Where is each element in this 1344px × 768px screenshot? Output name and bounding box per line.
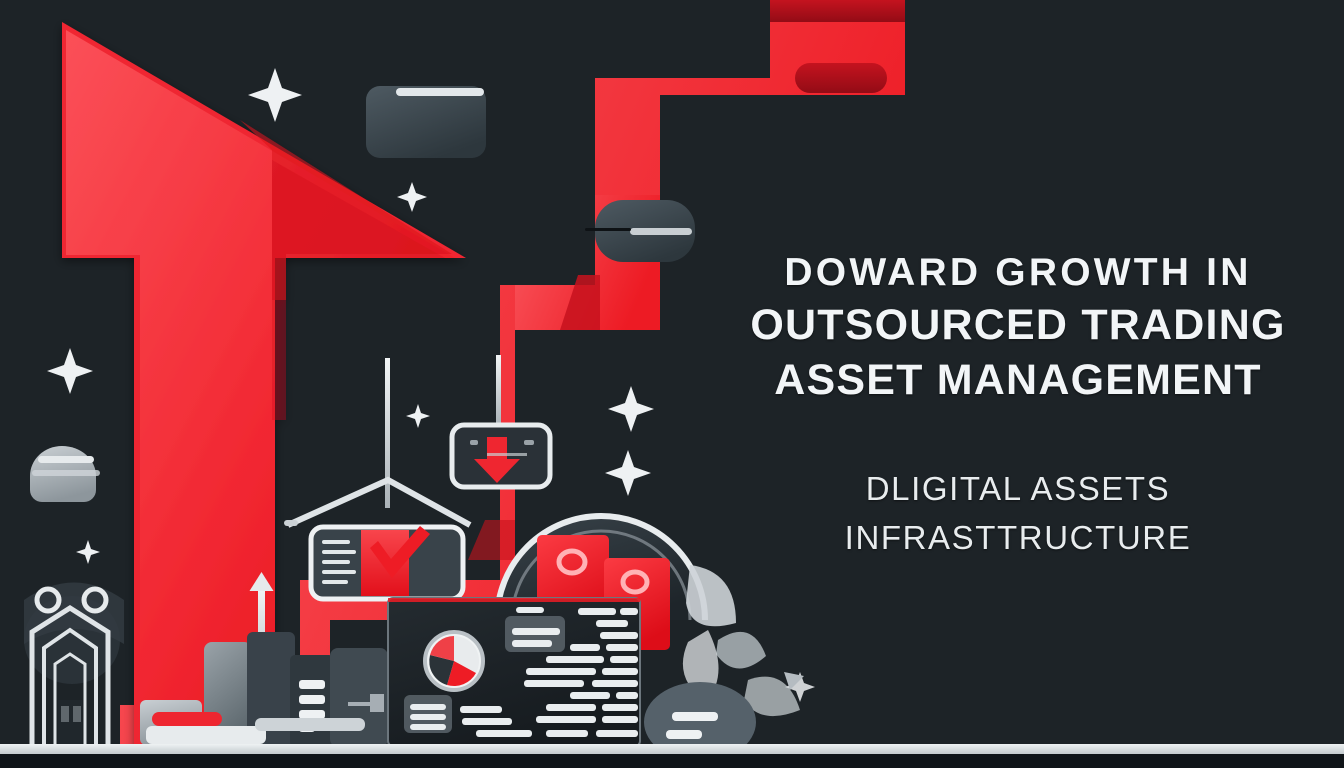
bottom-bar [0,754,1344,768]
pie-chart-icon [425,632,483,690]
analytics-dashboard-panel [388,598,640,746]
poster-canvas: DOWARD GROWTH IN OUTSOURCED TRADING ASSE… [0,0,1344,768]
step-shadow-accent [795,63,887,93]
headline-block: DOWARD GROWTH IN OUTSOURCED TRADING ASSE… [738,248,1298,408]
subtitle-line-2: INFRASTTRUCTURE [738,514,1298,563]
subtitle-block: DLIGITAL ASSETS INFRASTTRUCTURE [738,465,1298,563]
ground-line [0,744,1344,754]
subtitle-line-1: DLIGITAL ASSETS [738,465,1298,514]
headline-line-2: OUTSOURCED TRADING [738,298,1298,353]
rounded-slate-card [366,86,486,158]
headline-line-1: DOWARD GROWTH IN [738,248,1298,298]
headline-line-3: ASSET MANAGEMENT [738,353,1298,408]
